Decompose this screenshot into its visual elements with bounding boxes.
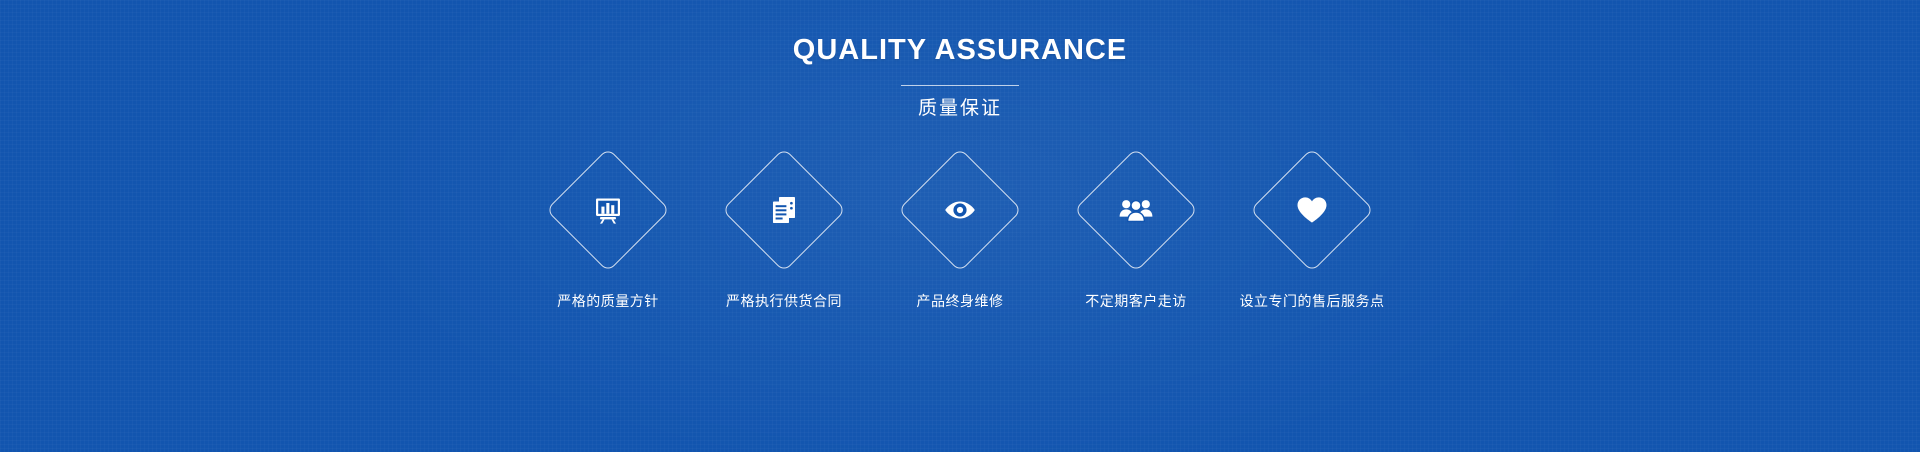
feature-item-customer-visits[interactable]: 不定期客户走访 [1048,166,1224,308]
document-contract-icon [741,167,827,253]
eye-icon [917,167,1003,253]
feature-item-quality-policy[interactable]: 严格的质量方针 [520,166,696,308]
people-group-icon [1093,167,1179,253]
diamond-frame [1074,148,1198,272]
diamond-frame [546,148,670,272]
quality-assurance-banner: QUALITY ASSURANCE 质量保证 [0,0,1920,452]
title-divider [901,85,1019,86]
feature-label: 严格执行供货合同 [726,294,842,308]
feature-item-supply-contract[interactable]: 严格执行供货合同 [696,166,872,308]
page-title: QUALITY ASSURANCE [0,36,1920,65]
presentation-chart-icon [565,167,651,253]
feature-label: 不定期客户走访 [1085,294,1187,308]
feature-label: 设立专门的售后服务点 [1240,294,1385,308]
feature-list: 严格的质量方针 严格执行供货合同 [0,166,1920,308]
heart-icon [1269,167,1355,253]
diamond-frame [898,148,1022,272]
feature-item-service-center[interactable]: 设立专门的售后服务点 [1224,166,1400,308]
banner-header: QUALITY ASSURANCE 质量保证 [0,36,1920,118]
feature-label: 产品终身维修 [917,294,1004,308]
feature-item-lifetime-repair[interactable]: 产品终身维修 [872,166,1048,308]
page-subtitle: 质量保证 [0,99,1920,118]
diamond-frame [1250,148,1374,272]
diamond-frame [722,148,846,272]
feature-label: 严格的质量方针 [557,294,659,308]
